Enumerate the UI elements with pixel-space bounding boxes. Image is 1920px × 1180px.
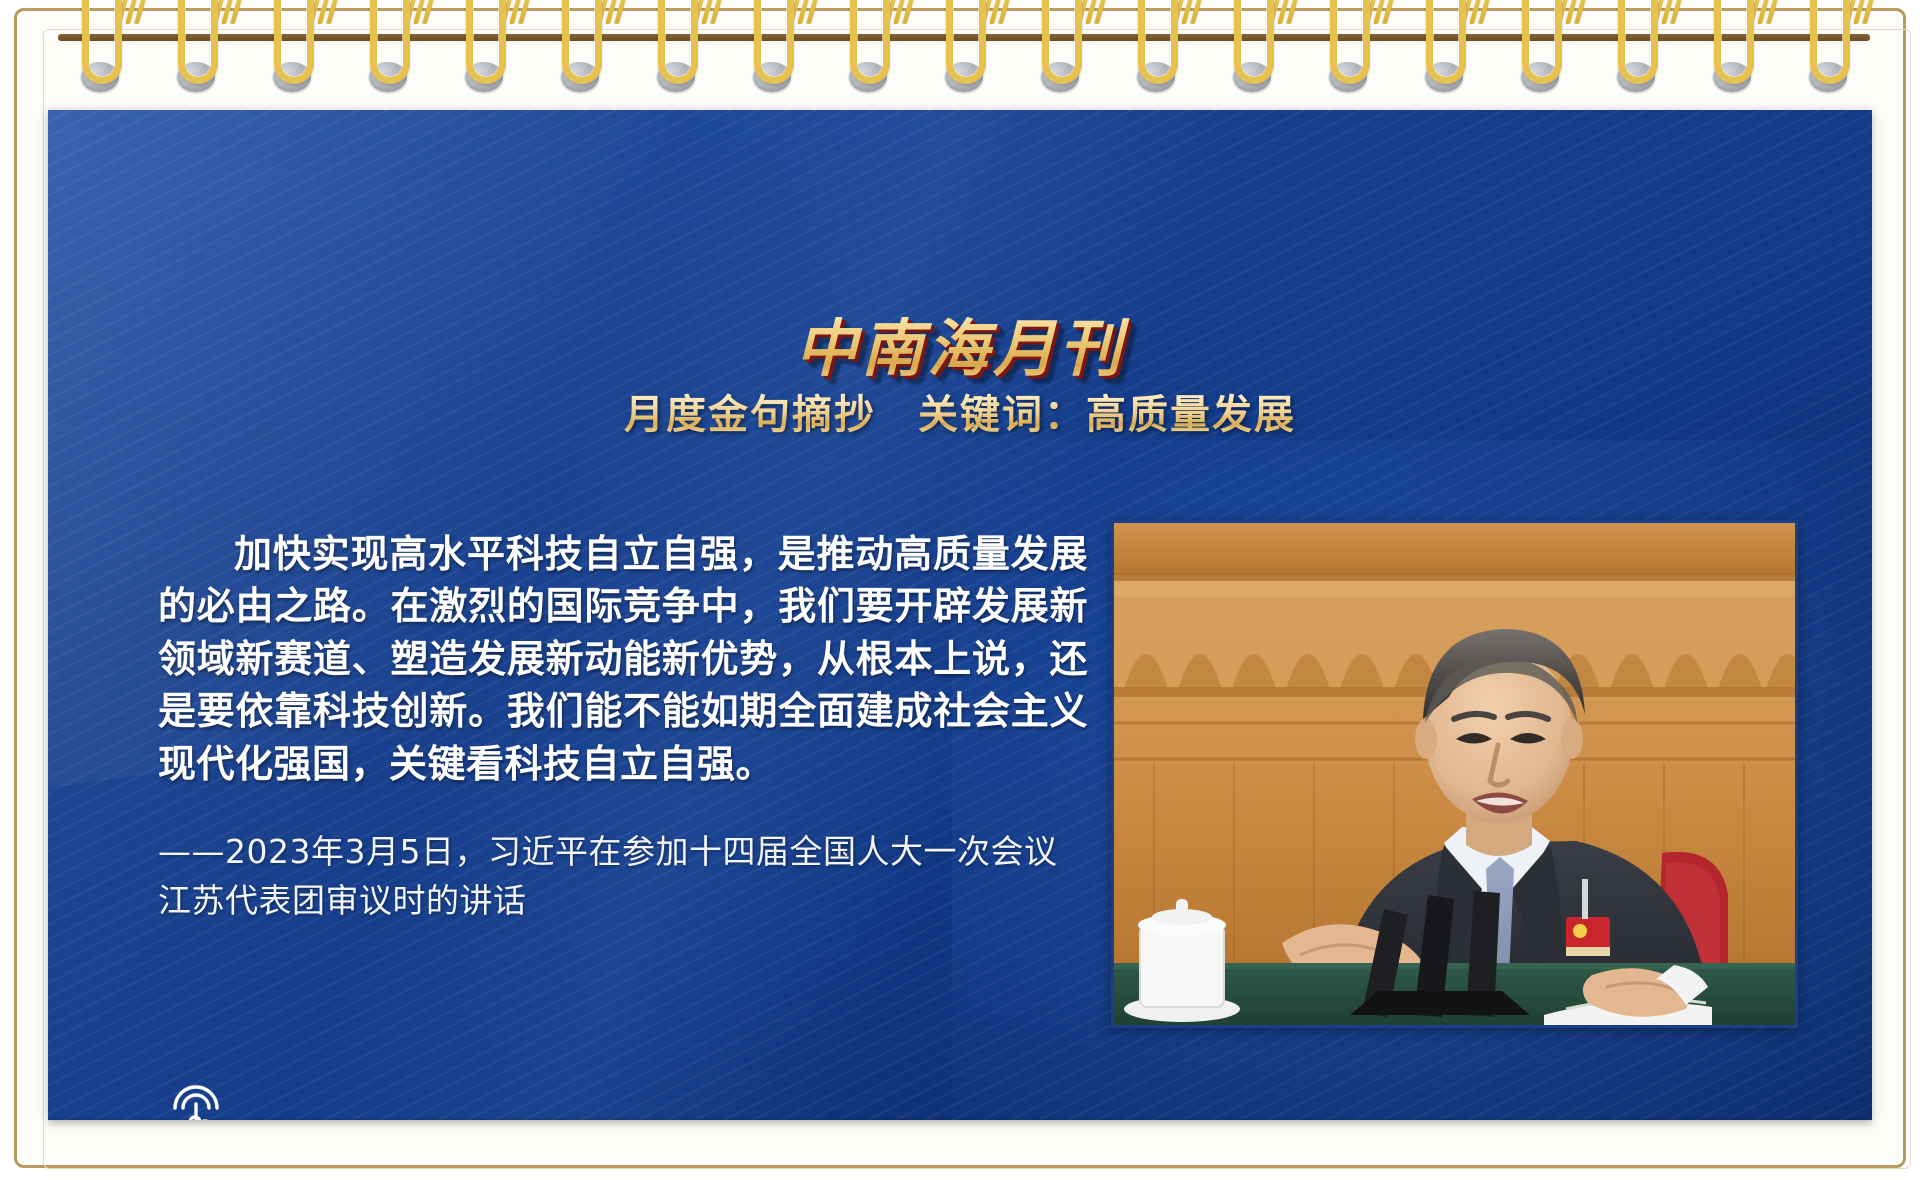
spiral-ring-tail bbox=[506, 0, 532, 26]
spiral-ring-icon bbox=[1426, 0, 1466, 84]
spiral-ring-icon bbox=[1714, 0, 1754, 84]
spiral-ring-tail bbox=[122, 0, 148, 26]
spiral-ring-tail bbox=[986, 0, 1012, 26]
spiral-ring-icon bbox=[658, 0, 698, 84]
spiral-binding bbox=[0, 0, 1920, 104]
page-title: 中南海月刊 bbox=[789, 298, 1131, 388]
quote-block: 加快实现高水平科技自立自强，是推动高质量发展的必由之路。在激烈的国际竞争中，我们… bbox=[158, 528, 1088, 926]
spiral-ring-tail bbox=[1466, 0, 1492, 26]
spiral-ring-icon bbox=[466, 0, 506, 84]
spiral-ring-icon bbox=[1522, 0, 1562, 84]
spiral-ring-tail bbox=[794, 0, 820, 26]
quote-source: ——2023年3月5日，习近平在参加十四届全国人大一次会议江苏代表团审议时的讲话 bbox=[158, 828, 1088, 926]
speaker-photo bbox=[1111, 520, 1798, 1028]
spiral-ring-tail bbox=[890, 0, 916, 26]
subtitle-row: 月度金句摘抄 关键词：高质量发展 bbox=[48, 382, 1872, 440]
card-bottom-shadow bbox=[48, 1118, 1872, 1128]
spiral-ring-tail bbox=[314, 0, 340, 26]
spiral-ring-tail bbox=[698, 0, 724, 26]
subtitle-text: 月度金句摘抄 关键词：高质量发展 bbox=[624, 392, 1296, 438]
spiral-ring-icon bbox=[1810, 0, 1850, 84]
spiral-ring-tail bbox=[1658, 0, 1684, 26]
spiral-ring-tail bbox=[1562, 0, 1588, 26]
spiral-ring-tail bbox=[410, 0, 436, 26]
spiral-ring-tail bbox=[1274, 0, 1300, 26]
tap-hand-icon[interactable] bbox=[160, 1078, 234, 1120]
spiral-ring-tail bbox=[218, 0, 244, 26]
spiral-ring-icon bbox=[754, 0, 794, 84]
spiral-ring-icon bbox=[1618, 0, 1658, 84]
spiral-ring-icon bbox=[370, 0, 410, 84]
spiral-ring-icon bbox=[850, 0, 890, 84]
spiral-ring-icon bbox=[274, 0, 314, 84]
spiral-ring-icon bbox=[82, 0, 122, 84]
spiral-ring-icon bbox=[1234, 0, 1274, 84]
spiral-ring-tail bbox=[1082, 0, 1108, 26]
photo-illustration bbox=[1114, 523, 1795, 1025]
spiral-ring-icon bbox=[178, 0, 218, 84]
spiral-ring-icon bbox=[1138, 0, 1178, 84]
spiral-ring-icon bbox=[1330, 0, 1370, 84]
spiral-ring-tail bbox=[1370, 0, 1396, 26]
notebook-page: 中南海月刊 月度金句摘抄 关键词：高质量发展 加快实现高水平科技自立自强，是推动… bbox=[0, 0, 1920, 1180]
content-card: 中南海月刊 月度金句摘抄 关键词：高质量发展 加快实现高水平科技自立自强，是推动… bbox=[48, 110, 1872, 1120]
spiral-ring-icon bbox=[562, 0, 602, 84]
masthead: 中南海月刊 bbox=[48, 298, 1872, 388]
spiral-ring-tail bbox=[1850, 0, 1876, 26]
spiral-ring-tail bbox=[1754, 0, 1780, 26]
quote-body: 加快实现高水平科技自立自强，是推动高质量发展的必由之路。在激烈的国际竞争中，我们… bbox=[158, 528, 1088, 790]
spiral-ring-tail bbox=[602, 0, 628, 26]
spiral-ring-tail bbox=[1178, 0, 1204, 26]
spiral-ring-icon bbox=[946, 0, 986, 84]
tap-hand-glyph bbox=[160, 1078, 234, 1120]
spiral-ring-icon bbox=[1042, 0, 1082, 84]
